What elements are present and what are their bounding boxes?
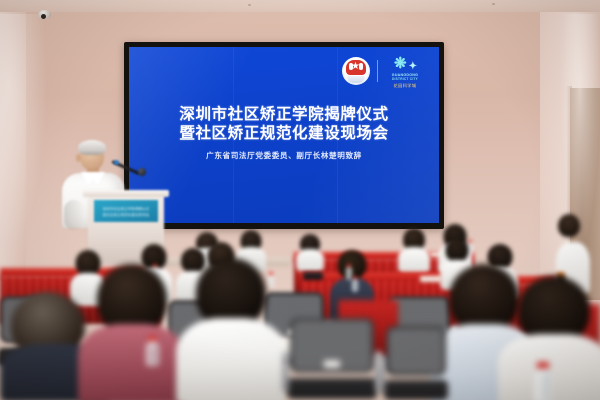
office-chair-foreground	[290, 318, 374, 400]
office-chair-foreground	[386, 326, 446, 400]
audience-person	[398, 228, 430, 274]
audience-person	[296, 234, 324, 272]
ceiling-security-camera-icon	[38, 8, 51, 20]
laptop	[303, 272, 323, 280]
screen-logo-row: ★ GUANGDONG DISTRICT CITY 花园科学城	[342, 56, 425, 86]
screen-title-block: 深圳市社区矫正学院揭牌仪式 暨社区矫正规范化建设现场会 广东省司法厅党委委员、副…	[129, 105, 439, 161]
left-wall-light-glow	[0, 14, 46, 244]
water-bottle	[352, 276, 358, 292]
podium-sign: 深圳市社区矫正学院揭牌仪式 暨社区矫正规范化建设现场会	[94, 200, 158, 222]
screen-title-line-1: 深圳市社区矫正学院揭牌仪式	[129, 105, 439, 124]
podium-sign-line-1: 深圳市社区矫正学院揭牌仪式	[103, 206, 150, 211]
audience-person-foreground-white	[176, 258, 286, 400]
conference-room-scene: ★ GUANGDONG DISTRICT CITY 花园科学城 深圳市社区矫正学…	[0, 0, 600, 400]
guangdong-logo-latin2: DISTRICT CITY	[385, 77, 425, 81]
led-display-screen[interactable]: ★ GUANGDONG DISTRICT CITY 花园科学城 深圳市社区矫正学…	[124, 42, 444, 229]
screen-title-line-2: 暨社区矫正规范化建设现场会	[129, 124, 439, 143]
ceiling-fixture-icon	[492, 3, 495, 5]
audience-person-foreground-pink	[78, 264, 186, 400]
guangdong-logo-icon: GUANGDONG DISTRICT CITY 花园科学城	[385, 56, 425, 86]
ceiling-fixture-icon	[248, 4, 251, 6]
microphone-mount	[114, 160, 119, 165]
water-bottle-foreground	[146, 336, 159, 366]
podium-sign-line-2: 暨社区矫正规范化建设现场会	[103, 212, 150, 217]
logo-divider	[377, 60, 378, 82]
sifa-emblem-icon: ★	[342, 57, 370, 85]
screen-content-area: ★ GUANGDONG DISTRICT CITY 花园科学城 深圳市社区矫正学…	[129, 47, 439, 223]
speaker-hair	[78, 140, 106, 155]
guangdong-logo-cn: 花园科学城	[385, 83, 425, 89]
screen-subtitle: 广东省司法厅党委委员、副厅长林楚明致辞	[129, 150, 439, 161]
microphone-head-icon	[138, 168, 146, 176]
water-bottle-foreground	[534, 362, 552, 400]
